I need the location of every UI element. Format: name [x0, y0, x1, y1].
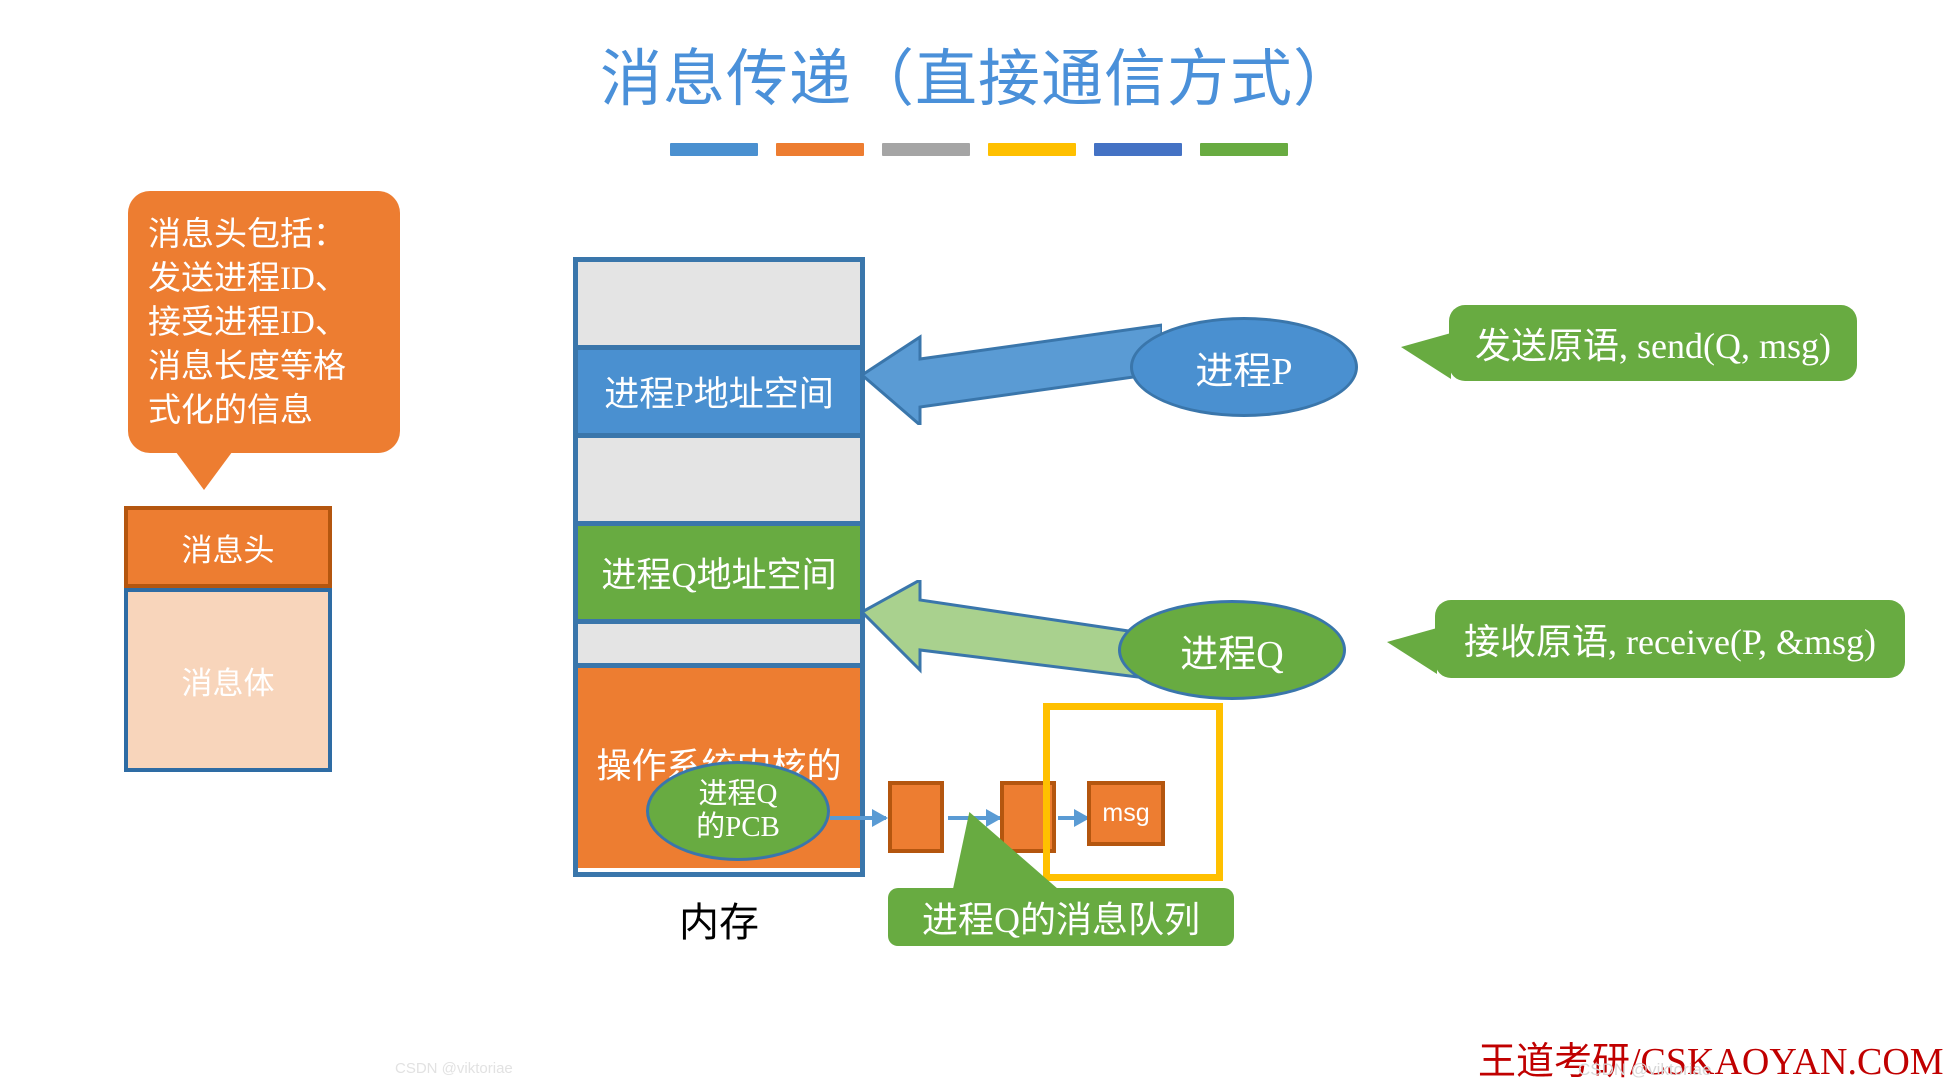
pcb-line-1: 进程Q [699, 778, 778, 811]
callout-line-2: 发送进程ID、 [148, 257, 380, 301]
receive-flow-arrow [862, 580, 1162, 690]
bar-orange [776, 143, 864, 156]
bar-green [1200, 143, 1288, 156]
receive-primitive-callout: 接收原语, receive(P, &msg) [1435, 600, 1905, 678]
bar-yellow [988, 143, 1076, 156]
title-accent-bars [670, 143, 1288, 156]
receive-callout-tail-icon [1387, 628, 1437, 674]
watermark-center: CSDN @viktoriae [395, 1060, 513, 1077]
queue-arrow-1 [830, 816, 886, 820]
message-queue-label: 进程Q的消息队列 [888, 888, 1234, 946]
memory-caption: 内存 [573, 890, 865, 948]
callout-line-3: 接受进程ID、 [148, 301, 380, 345]
page-title: 消息传递（直接通信方式） [0, 28, 1956, 118]
memory-block-free-1 [578, 262, 860, 350]
receive-primitive-text: 接收原语, receive(P, &msg) [1464, 613, 1876, 665]
slide-canvas: 消息传递（直接通信方式） 消息头包括： 发送进程ID、 接受进程ID、 消息长度… [0, 0, 1956, 1090]
memory-block-process-p: 进程P地址空间 [578, 350, 860, 438]
send-flow-arrow [862, 315, 1162, 425]
message-header-box: 消息头 [124, 506, 332, 588]
queue-node-1 [888, 781, 944, 853]
bar-gray [882, 143, 970, 156]
process-q-ellipse: 进程Q [1118, 600, 1346, 700]
memory-block-free-2 [578, 438, 860, 526]
memory-block-process-q: 进程Q地址空间 [578, 526, 860, 624]
send-primitive-callout: 发送原语, send(Q, msg) [1449, 305, 1857, 381]
pcb-line-2: 的PCB [696, 811, 780, 844]
message-header-callout: 消息头包括： 发送进程ID、 接受进程ID、 消息长度等格 式化的信息 [128, 191, 400, 453]
callout-line-4: 消息长度等格 [148, 345, 380, 389]
callout-line-5: 式化的信息 [148, 389, 380, 433]
send-primitive-text: 发送原语, send(Q, msg) [1475, 317, 1831, 369]
bar-navy [1094, 143, 1182, 156]
watermark-right: CSDN @viktoriae [1578, 1060, 1711, 1080]
send-callout-tail-icon [1401, 333, 1451, 379]
process-q-pcb-ellipse: 进程Q 的PCB [646, 761, 830, 861]
bar-blue [670, 143, 758, 156]
process-p-ellipse: 进程P [1130, 317, 1358, 417]
message-body-box: 消息体 [124, 588, 332, 772]
queue-label-tail-icon [951, 812, 1090, 900]
memory-block-free-3 [578, 624, 860, 668]
callout-line-1: 消息头包括： [148, 213, 380, 257]
